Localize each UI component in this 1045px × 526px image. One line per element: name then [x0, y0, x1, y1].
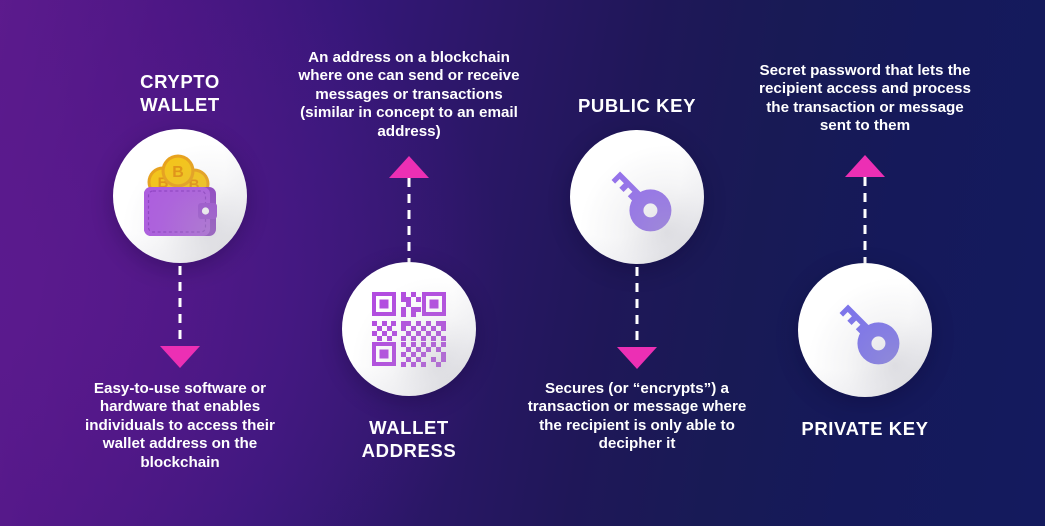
arrow-down-icon: [617, 347, 657, 369]
crypto-wallet-connector: [155, 266, 205, 370]
crypto-wallet-description: Easy-to-use software or hardware that en…: [70, 380, 290, 472]
dashed-line: [179, 266, 182, 348]
private-key-connector: [840, 155, 890, 263]
arrow-up-icon: [845, 155, 885, 177]
infographic-canvas: CRYPTO WALLET B B B: [0, 0, 1045, 526]
public-key-description: Secures (or “encrypts”) a transaction or…: [522, 380, 752, 454]
wallet-address-heading: WALLET ADDRESS: [299, 416, 519, 462]
private-key-circle: [798, 263, 932, 397]
dashed-line: [408, 178, 411, 262]
wallet-icon: B B B: [113, 129, 247, 263]
private-key-heading: PRIVATE KEY: [755, 417, 975, 440]
public-key-connector: [612, 267, 662, 371]
wallet-address-connector: [384, 156, 434, 262]
key-icon: [570, 130, 704, 264]
dashed-line: [636, 267, 639, 349]
arrow-up-icon: [389, 156, 429, 178]
arrow-down-icon: [160, 346, 200, 368]
wallet-body: [144, 187, 217, 236]
public-key-heading: PUBLIC KEY: [527, 94, 747, 117]
crypto-wallet-heading: CRYPTO WALLET: [70, 70, 290, 116]
crypto-wallet-circle: B B B: [113, 129, 247, 263]
qr-code-icon: [342, 262, 476, 396]
private-key-description: Secret password that lets the recipient …: [750, 62, 980, 136]
wallet-address-description: An address on a blockchain where one can…: [294, 49, 524, 141]
svg-text:B: B: [172, 164, 184, 181]
public-key-circle: [570, 130, 704, 264]
dashed-line: [864, 177, 867, 263]
wallet-address-circle: [342, 262, 476, 396]
key-icon: [798, 263, 932, 397]
